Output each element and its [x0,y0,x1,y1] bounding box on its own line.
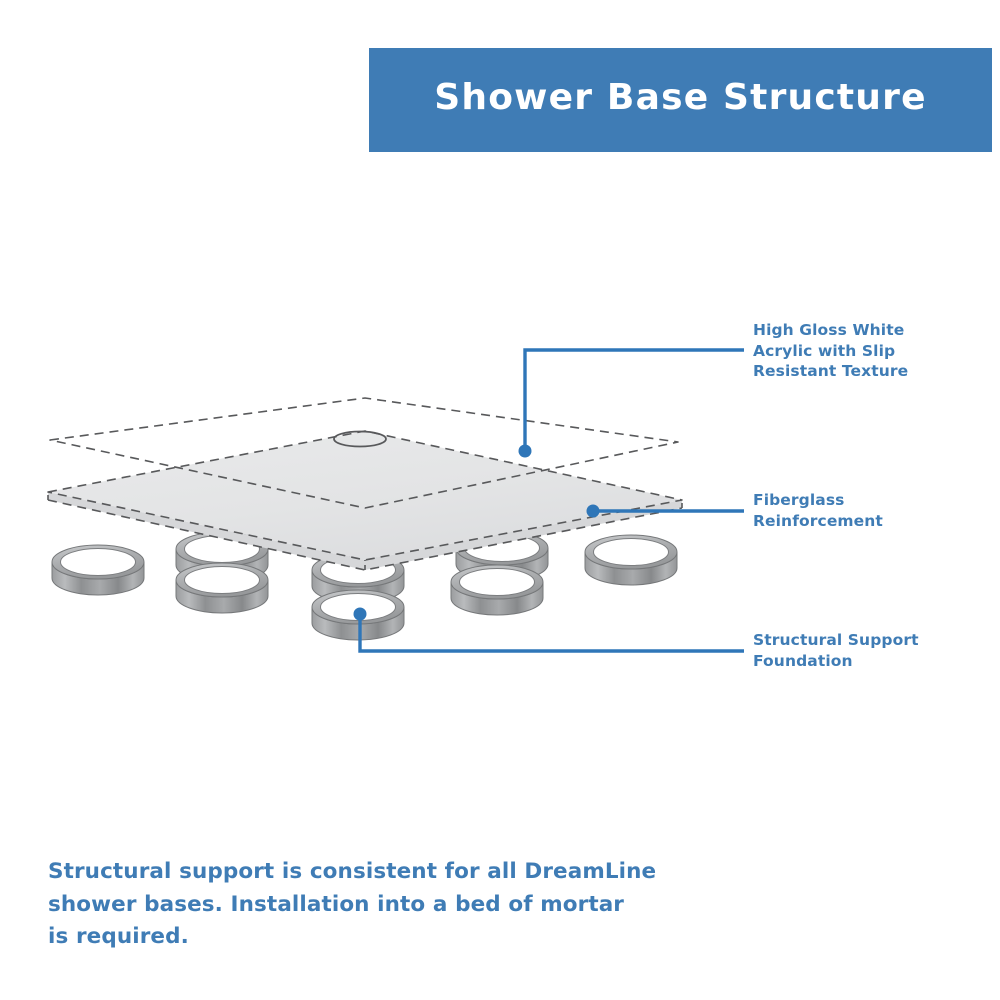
support-ring-1 [52,545,144,595]
footer-caption: Structural support is consistent for all… [48,856,688,954]
fiberglass-slab-top-face [48,431,682,560]
leader-dot-fiberglass [587,505,600,518]
leader-line-acrylic [519,350,745,458]
callout-label-high-gloss-white-acrylic: High Gloss White Acrylic with Slip Resis… [753,320,908,382]
callout-label-structural-support-foundation: Structural Support Foundation [753,630,919,671]
support-ring-8 [585,535,677,585]
support-ring-6 [451,565,543,615]
title-banner: Shower Base Structure [369,48,992,152]
page-title: Shower Base Structure [434,80,926,116]
leader-dot-support [354,608,367,621]
callout-label-fiberglass-reinforcement: Fiberglass Reinforcement [753,490,883,531]
leader-line-support [354,608,745,652]
support-ring-2 [176,563,268,613]
leader-dot-acrylic [519,445,532,458]
